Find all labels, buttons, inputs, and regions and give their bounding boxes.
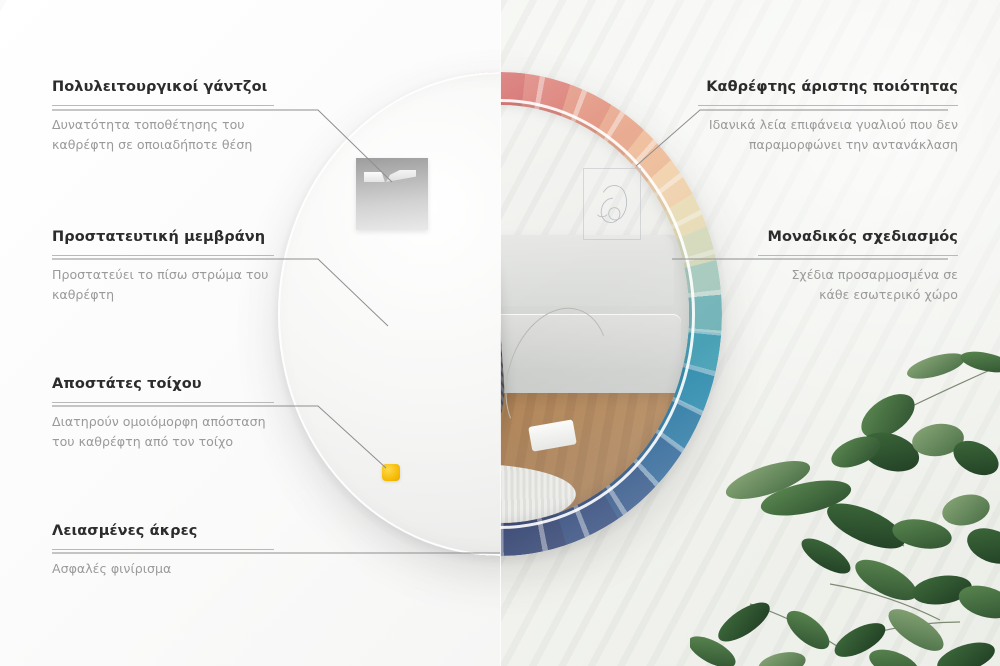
panel-divider [500, 0, 501, 666]
callout-edges-description: Ασφαλές φινίρισμα [52, 559, 274, 579]
callout-quality-mirror-rule [698, 105, 958, 106]
callout-edges-title: Λειασμένες άκρες [52, 522, 274, 540]
callout-membrane: Προστατευτική μεμβράνη Προστατεύει το πί… [52, 228, 274, 304]
callout-hooks-description: Δυνατότητα τοποθέτησης του καθρέφτη σε ο… [52, 115, 274, 154]
callout-spacers: Αποστάτες τοίχου Διατηρούν ομοιόμορφη απ… [52, 375, 274, 451]
callout-unique-design-rule [758, 255, 958, 256]
hook-slot-right-icon [386, 170, 416, 182]
foreground-plant [690, 340, 1000, 666]
plant-leaves [690, 348, 1000, 666]
callout-quality-mirror-description: Ιδανικά λεία επιφάνεια γυαλιού που δεν π… [698, 115, 958, 154]
callout-edges: Λειασμένες άκρες Ασφαλές φινίρισμα [52, 522, 274, 579]
callout-edges-rule [52, 549, 274, 550]
hook-plate [356, 158, 428, 230]
spacer-dot [382, 464, 400, 481]
callout-unique-design-title: Μοναδικός σχεδιασμός [758, 228, 958, 246]
callout-spacers-description: Διατηρούν ομοιόμορφη απόσταση του καθρέφ… [52, 412, 274, 451]
callout-quality-mirror-title: Καθρέφτης άριστης ποιότητας [698, 78, 958, 96]
callout-hooks-rule [52, 105, 274, 106]
callout-membrane-title: Προστατευτική μεμβράνη [52, 228, 274, 246]
callout-spacers-rule [52, 402, 274, 403]
callout-hooks-title: Πολυλειτουργικοί γάντζοι [52, 78, 274, 96]
callout-membrane-description: Προστατεύει το πίσω στρώμα του καθρέφτη [52, 265, 274, 304]
callout-membrane-rule [52, 255, 274, 256]
callout-quality-mirror: Καθρέφτης άριστης ποιότητας Ιδανικά λεία… [698, 78, 958, 154]
callout-spacers-title: Αποστάτες τοίχου [52, 375, 274, 393]
callout-unique-design: Μοναδικός σχεδιασμός Σχέδια προσαρμοσμέν… [758, 228, 958, 304]
callout-hooks: Πολυλειτουργικοί γάντζοι Δυνατότητα τοπο… [52, 78, 274, 154]
infographic-canvas: Πολυλειτουργικοί γάντζοι Δυνατότητα τοπο… [0, 0, 1000, 666]
etched-logo [583, 168, 641, 240]
callout-unique-design-description: Σχέδια προσαρμοσμένα σε κάθε εσωτερικό χ… [758, 265, 958, 304]
